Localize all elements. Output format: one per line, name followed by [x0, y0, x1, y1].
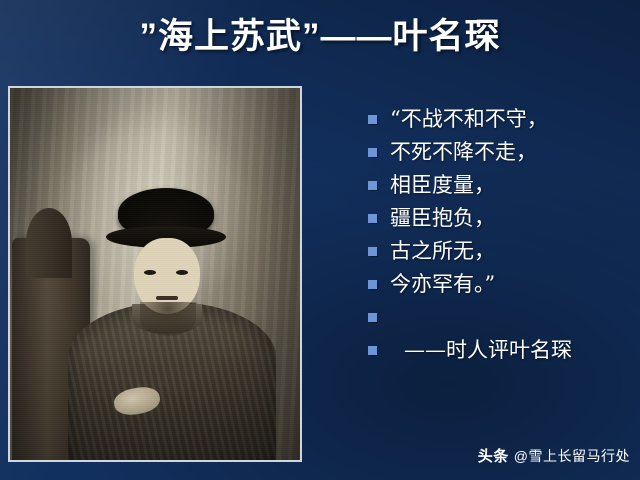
quote-line-text: “不战不和不守， — [390, 104, 548, 134]
quote-line: 今亦罕有。” — [368, 269, 636, 299]
watermark: 头条 @雪上长留马行处 — [478, 445, 630, 466]
page-title: ”海上苏武”——叶名琛 — [0, 8, 640, 59]
quote-line-text: 古之所无， — [390, 236, 495, 266]
bullet-icon — [368, 115, 377, 124]
quote-line: 疆臣抱负， — [368, 203, 636, 233]
quote-line-text: 今亦罕有。” — [390, 269, 495, 299]
portrait-photo — [8, 86, 302, 462]
photo-grain — [10, 88, 300, 460]
quote-line-text: ——时人评叶名琛 — [390, 335, 572, 365]
bullet-icon — [368, 247, 377, 256]
quote-line-text: 不死不降不走， — [390, 137, 537, 167]
bullet-icon — [368, 181, 377, 190]
quote-line: “不战不和不守， — [368, 104, 636, 134]
bullet-icon — [368, 214, 377, 223]
quote-line-text: 相臣度量， — [390, 170, 495, 200]
quote-list: “不战不和不守，不死不降不走，相臣度量，疆臣抱负，古之所无，今亦罕有。”——时人… — [368, 104, 636, 368]
slide-canvas: ”海上苏武”——叶名琛 “不战不和不守，不死不降不走，相臣度量，疆臣抱负，古之所… — [0, 0, 640, 480]
quote-line: ——时人评叶名琛 — [368, 335, 636, 365]
bullet-icon — [368, 346, 377, 355]
bullet-icon — [368, 313, 377, 322]
bullet-icon — [368, 148, 377, 157]
watermark-account: @雪上长留马行处 — [514, 446, 630, 466]
quote-line: 相臣度量， — [368, 170, 636, 200]
quote-line: 不死不降不走， — [368, 137, 636, 167]
quote-line — [368, 302, 636, 332]
watermark-logo: 头条 — [478, 445, 509, 466]
quote-line-text: 疆臣抱负， — [390, 203, 495, 233]
quote-line: 古之所无， — [368, 236, 636, 266]
portrait-image — [10, 88, 300, 460]
bullet-icon — [368, 280, 377, 289]
